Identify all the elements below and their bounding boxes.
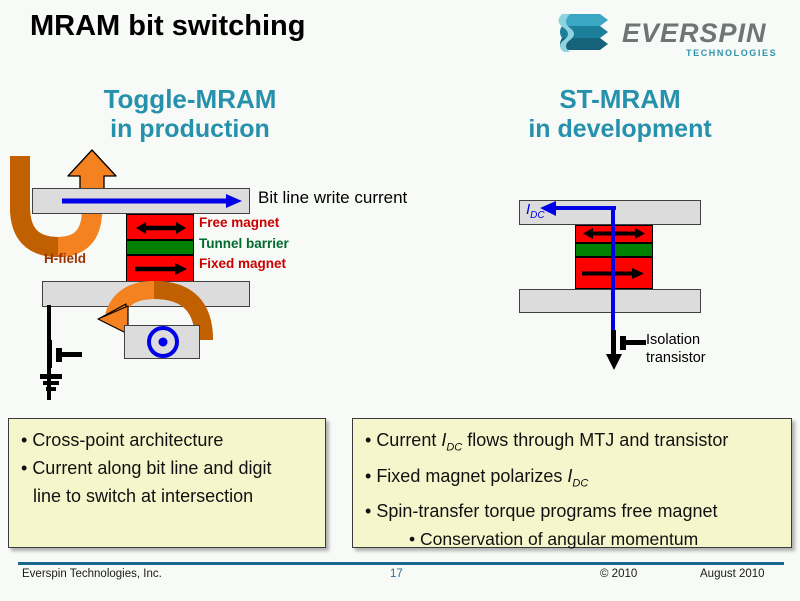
note-post: flows through MTJ and transistor <box>462 430 728 450</box>
footer-rule <box>18 562 784 565</box>
notes-box-left: Cross-point architecture Current along b… <box>8 418 326 548</box>
idc-vertical-path <box>611 208 615 338</box>
logo-subtitle: TECHNOLOGIES <box>686 48 777 58</box>
everspin-e-ribbon-logo <box>556 10 616 62</box>
tunnel-barrier-layer <box>126 240 194 255</box>
list-item: Fixed magnet polarizes IDC <box>363 463 785 497</box>
footer-page-number: 17 <box>390 568 403 580</box>
left-transistor-symbol <box>36 336 96 398</box>
bit-line-write-current-label: Bit line write current <box>258 188 407 208</box>
fixed-magnet-arrow <box>135 263 187 275</box>
current-out-of-page-icon <box>145 324 181 360</box>
tunnel-barrier-label: Tunnel barrier <box>199 236 289 251</box>
notes-box-right: Current IDC flows through MTJ and transi… <box>352 418 792 548</box>
isolation-transistor-label-line2: transistor <box>646 349 706 367</box>
everspin-logo: EVERSPIN TECHNOLOGIES <box>556 8 782 66</box>
free-magnet-label: Free magnet <box>199 215 279 230</box>
heading-left-line1: Toggle-MRAM <box>50 84 330 114</box>
heading-right-line1: ST-MRAM <box>470 84 770 114</box>
list-item: line to switch at intersection <box>19 483 319 509</box>
footer-date: August 2010 <box>700 568 765 580</box>
idc-inline: IDC <box>441 430 462 450</box>
footer-company: Everspin Technologies, Inc. <box>22 568 162 580</box>
isolation-transistor-label-line1: Isolation <box>646 331 706 349</box>
heading-right-line2: in development <box>470 114 770 144</box>
list-item: Current IDC flows through MTJ and transi… <box>363 427 785 461</box>
bit-line-current-arrow <box>60 194 244 208</box>
isolation-transistor-label: Isolation transistor <box>646 331 706 367</box>
fixed-magnet-label: Fixed magnet <box>199 256 286 271</box>
list-item: Current along bit line and digit <box>19 455 319 481</box>
heading-left-line2: in production <box>50 114 330 144</box>
slide-canvas: MRAM bit switching EVERSPIN TECHNOLOGIES… <box>0 0 800 601</box>
list-item: Cross-point architecture <box>19 427 319 453</box>
bottom-electrode-bar <box>519 289 701 313</box>
logo-wordmark: EVERSPIN <box>622 18 767 49</box>
footer-copyright: © 2010 <box>600 568 637 580</box>
idc-inline: IDC <box>567 466 588 486</box>
note-pre: Fixed magnet polarizes <box>376 466 567 486</box>
heading-left-column: Toggle-MRAM in production <box>50 84 330 144</box>
notes-left-list: Cross-point architecture Current along b… <box>9 419 325 509</box>
list-item-sub: Conservation of angular momentum <box>363 526 785 552</box>
heading-right-column: ST-MRAM in development <box>470 84 770 144</box>
notes-right-list: Current IDC flows through MTJ and transi… <box>353 419 791 552</box>
hfield-top-label: H-field <box>44 251 86 266</box>
free-magnet-bidirectional-arrow <box>136 222 186 234</box>
note-pre: Current <box>376 430 441 450</box>
page-title: MRAM bit switching <box>30 10 305 43</box>
list-item: Spin-transfer torque programs free magne… <box>363 498 785 524</box>
idc-horizontal-arrow <box>540 201 616 217</box>
